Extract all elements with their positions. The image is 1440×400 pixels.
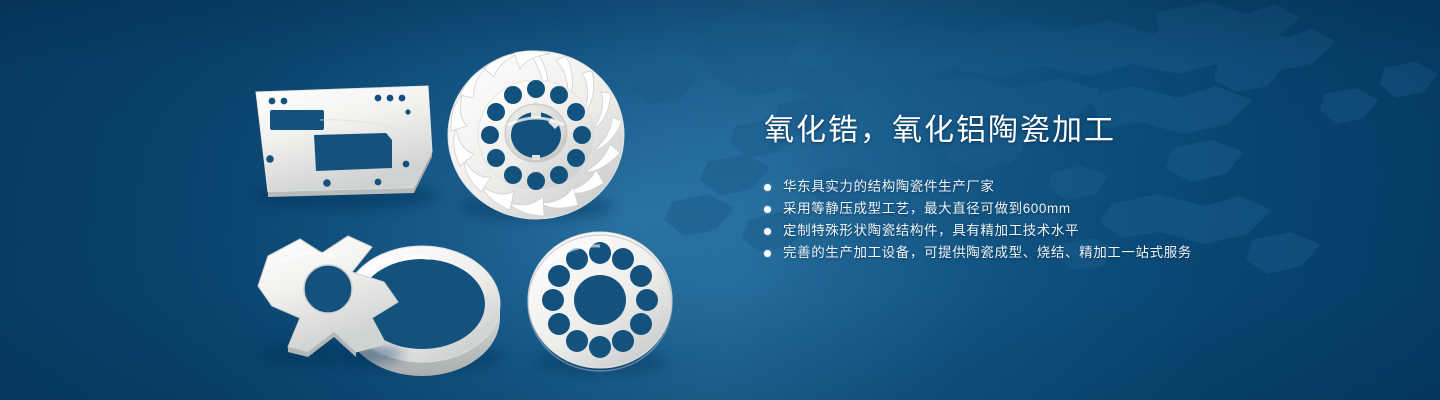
banner-copy: 氧化锆，氧化铝陶瓷加工 华东具实力的结构陶瓷件生产厂家 采用等静压成型工艺，最大…	[764, 112, 1364, 264]
feature-text: 完善的生产加工设备，可提供陶瓷成型、烧结、精加工一站式服务	[783, 242, 1192, 264]
ceramic-plate-rectangular	[253, 86, 437, 210]
bullet-dot-icon	[764, 206, 771, 213]
ceramic-impeller-disc	[448, 51, 624, 220]
list-item: 采用等静压成型工艺，最大直径可做到600mm	[764, 198, 1364, 220]
bullet-dot-icon	[764, 250, 771, 257]
page-title: 氧化锆，氧化铝陶瓷加工	[764, 112, 1364, 150]
ceramic-perforated-disc	[528, 232, 672, 374]
bullet-dot-icon	[764, 184, 771, 191]
list-item: 完善的生产加工设备，可提供陶瓷成型、烧结、精加工一站式服务	[764, 242, 1364, 264]
feature-text: 华东具实力的结构陶瓷件生产厂家	[783, 176, 995, 198]
feature-text: 定制特殊形状陶瓷结构件，具有精加工技术水平	[783, 220, 1079, 242]
list-item: 华东具实力的结构陶瓷件生产厂家	[764, 176, 1364, 198]
hero-banner: 氧化锆，氧化铝陶瓷加工 华东具实力的结构陶瓷件生产厂家 采用等静压成型工艺，最大…	[0, 0, 1440, 400]
product-photo-collage	[0, 0, 720, 400]
feature-text: 采用等静压成型工艺，最大直径可做到600mm	[783, 198, 1071, 220]
bullet-dot-icon	[764, 228, 771, 235]
feature-list: 华东具实力的结构陶瓷件生产厂家 采用等静压成型工艺，最大直径可做到600mm 定…	[764, 176, 1364, 264]
list-item: 定制特殊形状陶瓷结构件，具有精加工技术水平	[764, 220, 1364, 242]
